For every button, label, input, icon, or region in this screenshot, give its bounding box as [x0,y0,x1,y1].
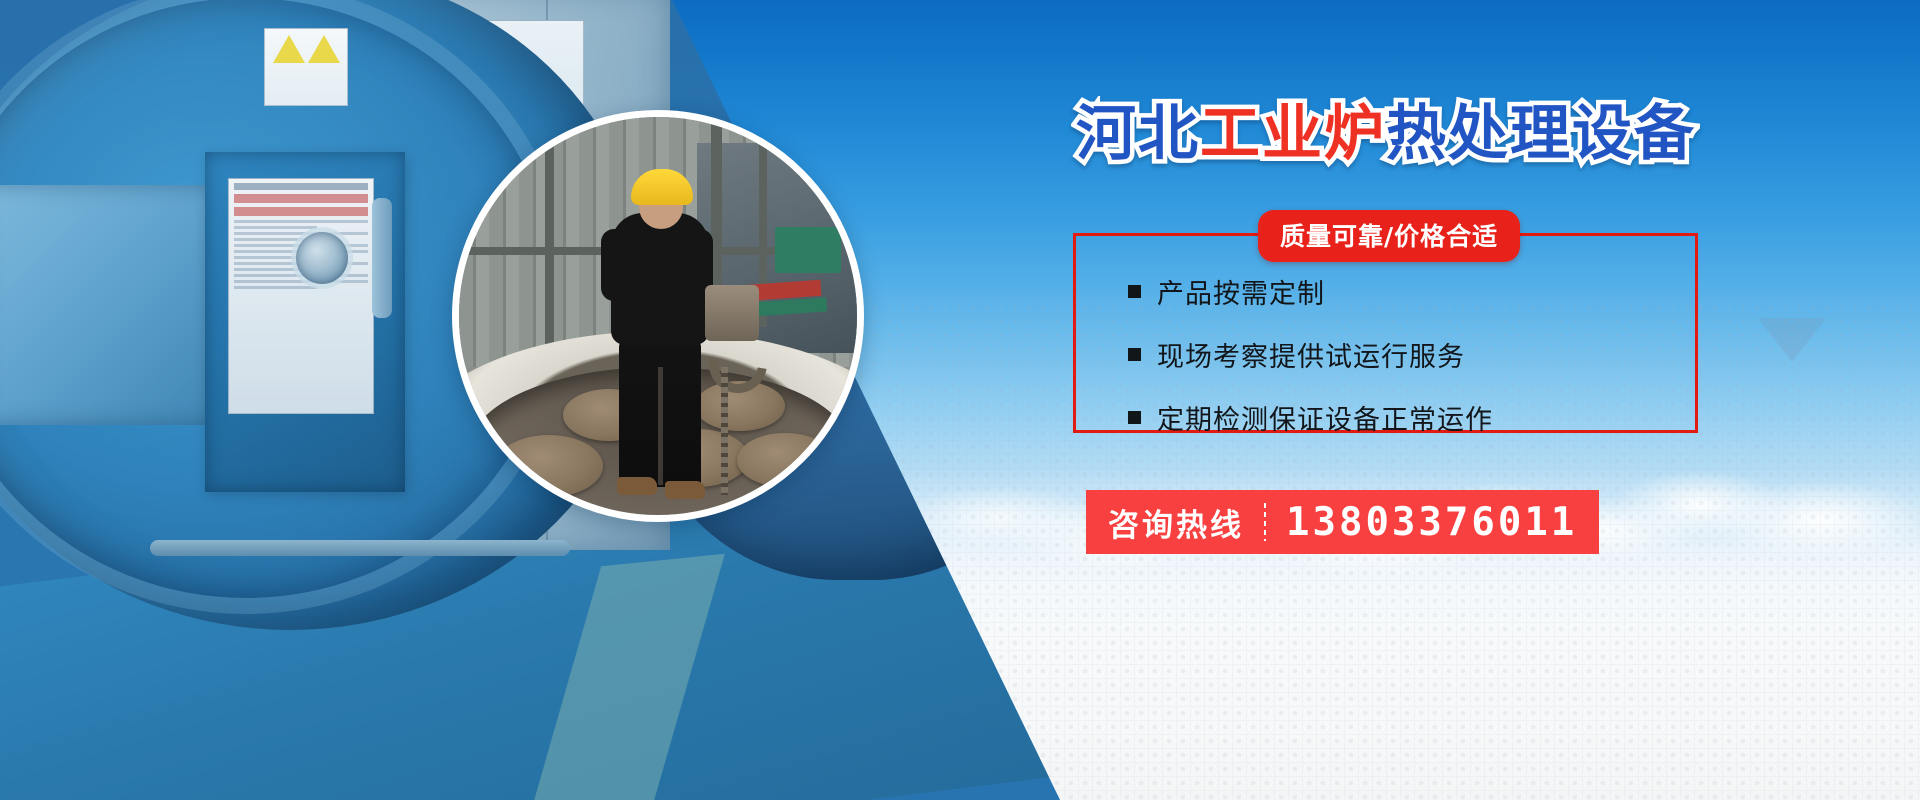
hotline-number[interactable]: 13803376011 [1286,500,1577,545]
furnace-piping [150,540,570,556]
headline-part-3: 热处理设备 [1386,99,1696,169]
list-item: 定期检测保证设备正常运作 [1128,398,1493,437]
headline-part-1: 河北 [1076,99,1200,169]
hoist-chain [721,367,728,495]
feature-text: 定期检测保证设备正常运作 [1157,398,1493,437]
hot-surface-triangle-icon [308,35,340,63]
furnace-safety-label [228,178,374,414]
furnace-handle [372,198,392,318]
sight-glass-port [296,232,348,284]
page-title: 河北工业炉热处理设备 [1076,104,1696,164]
circular-inset-photo [452,110,864,522]
hotline-label: 咨询热线 [1108,500,1244,545]
hero-banner: 河北工业炉热处理设备 质量可靠/价格合适 产品按需定制 现场考察提供试运行服务 … [0,0,1920,800]
furnace-side-box [0,185,220,425]
feature-text: 产品按需定制 [1157,272,1325,311]
warning-sign [264,28,348,106]
headline-part-2: 工业炉 [1200,99,1386,169]
hotline-bar[interactable]: 咨询热线 13803376011 [1086,490,1599,554]
list-item: 现场考察提供试运行服务 [1128,335,1493,374]
hoist-block [705,285,759,341]
list-item: 产品按需定制 [1128,272,1493,311]
hotline-divider [1264,503,1266,541]
warning-triangle-icon [273,35,305,63]
worker-torso [611,213,709,345]
quality-badge: 质量可靠/价格合适 [1258,210,1520,262]
feature-text: 现场考察提供试运行服务 [1157,335,1465,374]
square-bullet-icon [1128,348,1141,361]
feature-list: 产品按需定制 现场考察提供试运行服务 定期检测保证设备正常运作 [1128,272,1493,437]
square-bullet-icon [1128,285,1141,298]
square-bullet-icon [1128,411,1141,424]
machine-green [775,227,841,273]
